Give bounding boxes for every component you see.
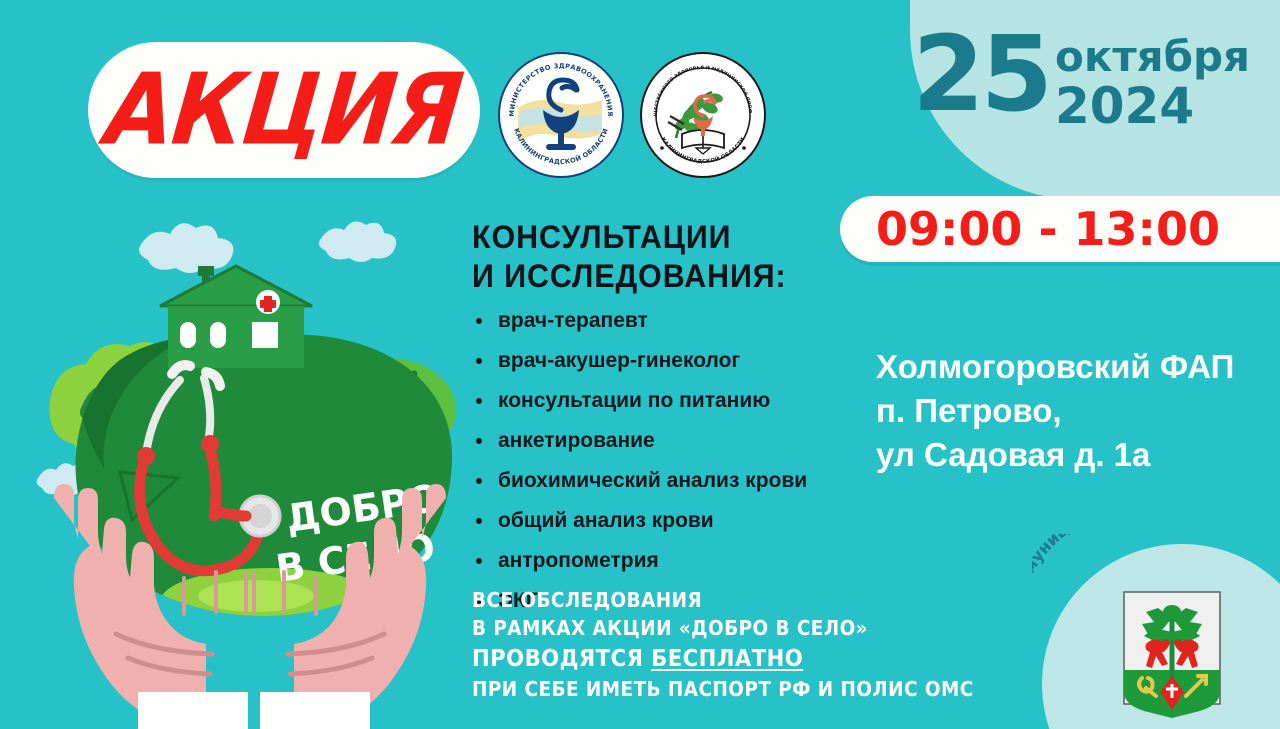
list-item: врач-акушер-гинеколог	[472, 350, 872, 371]
free-note-line-3: ПРОВОДЯТСЯ БЕСПЛАТНО	[472, 643, 950, 676]
emblem-row: МИНИСТЕРСТВО ЗДРАВООХРАНЕНИЯ КАЛИНИНГРАД…	[498, 52, 766, 178]
date-month: октября	[1055, 36, 1250, 78]
coat-of-arms-icon	[1124, 592, 1220, 718]
aktsiya-label: АКЦИЯ	[102, 61, 465, 160]
municipal-district-badge: Гурьевский муниципальный округ	[1032, 534, 1280, 729]
services-list: врач-терапевт врач-акушер-гинеколог конс…	[472, 310, 872, 611]
poster-canvas: ДОБРО В СЕЛО АКЦИЯ	[0, 0, 1280, 729]
event-time-range: 09:00 - 13:00	[876, 202, 1220, 256]
date-year: 2024	[1055, 80, 1194, 133]
services-section: КОНСУЛЬТАЦИИ И ИССЛЕДОВАНИЯ: врач-терапе…	[472, 218, 872, 630]
free-note-prefix: ПРОВОДЯТСЯ	[472, 646, 651, 672]
list-item: биохимический анализ крови	[472, 470, 872, 491]
aktsiya-badge: АКЦИЯ	[88, 42, 480, 178]
address-line-3: ул Садовая д. 1а	[876, 433, 1276, 477]
services-heading-line-2: И ИССЛЕДОВАНИЯ:	[472, 257, 852, 296]
list-item: анкетирование	[472, 430, 872, 451]
clinic-house-icon	[160, 266, 312, 368]
list-item: консультации по питанию	[472, 390, 872, 411]
event-time-badge: 09:00 - 13:00	[840, 196, 1280, 262]
date-day: 25	[912, 30, 1049, 119]
free-note-line-2: В РАМКАХ АКЦИИ «ДОБРО В СЕЛО»	[472, 614, 950, 642]
list-item: общий анализ крови	[472, 510, 872, 531]
services-heading: КОНСУЛЬТАЦИИ И ИССЛЕДОВАНИЯ:	[472, 218, 852, 296]
free-note-line-4: ПРИ СЕБЕ ИМЕТЬ ПАСПОРТ РФ И ПОЛИС ОМС	[472, 675, 950, 703]
services-heading-line-1: КОНСУЛЬТАЦИИ	[472, 218, 852, 257]
address-line-1: Холмогоровский ФАП	[876, 345, 1276, 389]
address-line-2: п. Петрово,	[876, 389, 1276, 433]
list-item: врач-терапевт	[472, 310, 872, 331]
dobro-v-selo-illustration: ДОБРО В СЕЛО	[20, 210, 480, 729]
public-health-center-emblem: ЦЕНТР ОБЩЕСТВЕННОГО ЗДОРОВЬЯ И МЕДИЦИНСК…	[640, 52, 766, 178]
free-note-line-1: ВСЕ ОБСЛЕДОВАНИЯ	[472, 586, 950, 614]
free-services-note: ВСЕ ОБСЛЕДОВАНИЯ В РАМКАХ АКЦИИ «ДОБРО В…	[472, 586, 992, 704]
venue-address: Холмогоровский ФАП п. Петрово, ул Садова…	[876, 345, 1276, 478]
event-date: 25 октября 2024	[930, 30, 1250, 160]
list-item: антропометрия	[472, 550, 872, 571]
free-note-emphasis: БЕСПЛАТНО	[651, 646, 803, 672]
ministry-of-health-emblem: МИНИСТЕРСТВО ЗДРАВООХРАНЕНИЯ КАЛИНИНГРАД…	[498, 52, 624, 178]
